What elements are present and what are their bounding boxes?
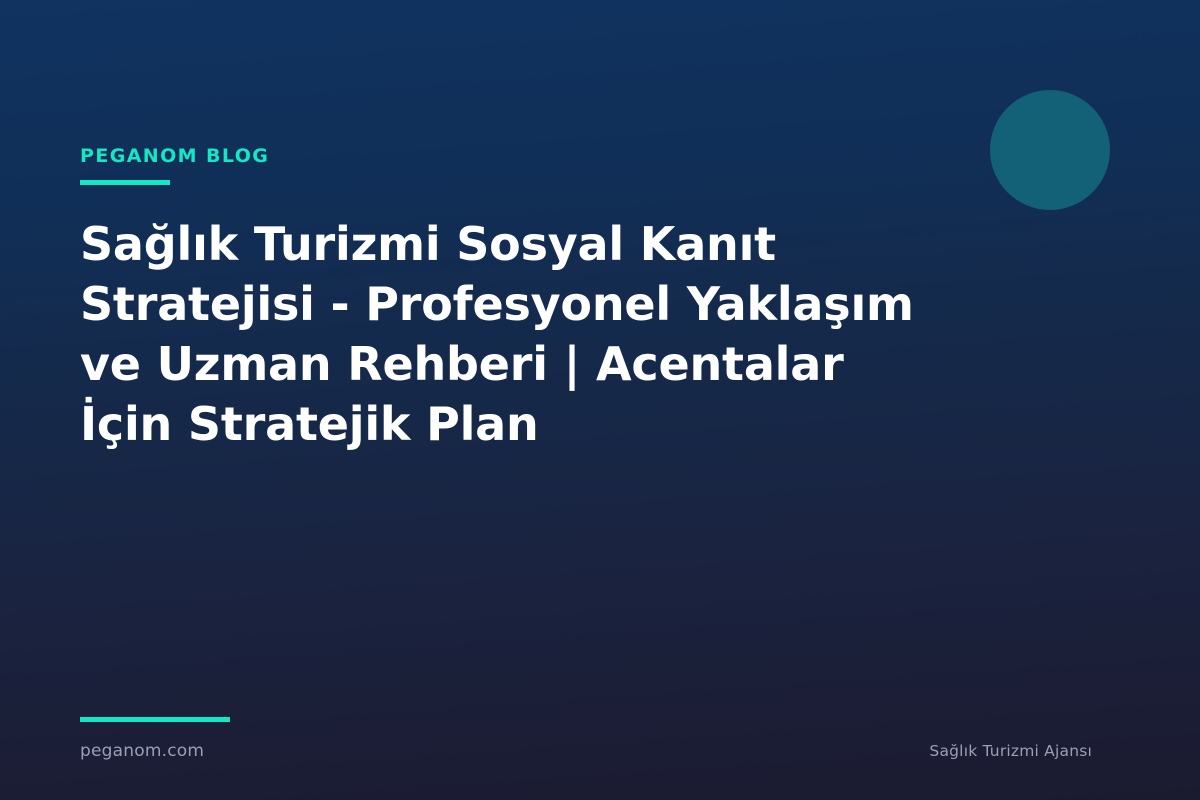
footer-attribution: Sağlık Turizmi Ajansı	[929, 742, 1092, 760]
footer-accent-rule	[80, 717, 230, 722]
page-title: Sağlık Turizmi Sosyal Kanıt Stratejisi -…	[80, 214, 940, 454]
blog-share-card: PEGANOM BLOG Sağlık Turizmi Sosyal Kanıt…	[0, 0, 1200, 800]
footer-site-url: peganom.com	[80, 741, 204, 761]
kicker-accent-rule	[80, 180, 170, 185]
kicker-block: PEGANOM BLOG	[80, 146, 269, 185]
blog-kicker-label: PEGANOM BLOG	[80, 146, 269, 167]
decorative-circle	[990, 90, 1110, 210]
